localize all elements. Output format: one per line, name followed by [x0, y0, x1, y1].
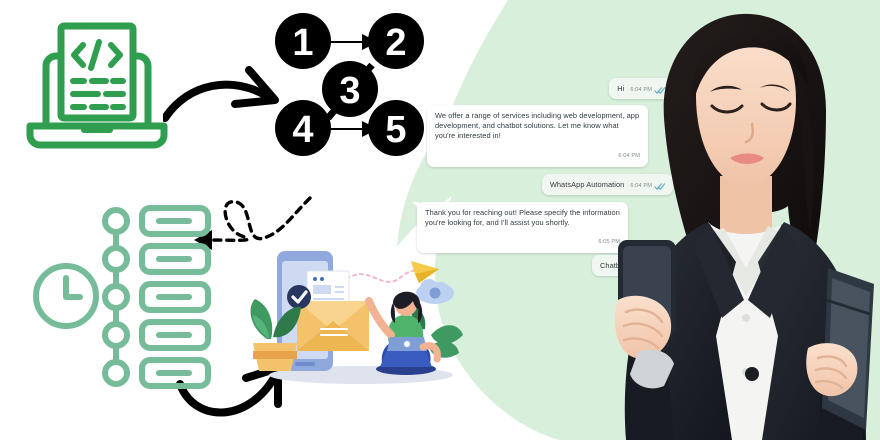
- businesswoman-photo: [612, 0, 880, 440]
- clock-timeline-icon: [22, 196, 222, 396]
- timeline-cards: [142, 208, 208, 386]
- bubble-tail: [422, 105, 429, 111]
- flow-node-3-label: 3: [339, 70, 360, 112]
- flow-node-5-label: 5: [385, 109, 406, 151]
- timeline-icon: [105, 210, 127, 384]
- poster-canvas: 1 2 3 4 5: [0, 0, 880, 440]
- bubble-tail: [412, 202, 419, 208]
- blazer-button: [745, 367, 759, 381]
- flow-node-2-label: 2: [385, 22, 406, 64]
- woman-with-laptop: [369, 292, 437, 375]
- flow-node-4-label: 4: [292, 109, 313, 151]
- chat-bubble-incoming[interactable]: Thank you for reaching out! Please speci…: [417, 202, 628, 253]
- flow-node-1-label: 1: [292, 22, 313, 64]
- chat-message-text: We offer a range of services including w…: [435, 111, 640, 142]
- chat-message-text: Thank you for reaching out! Please speci…: [425, 208, 620, 228]
- laptop-code-icon: [18, 14, 176, 154]
- numbered-flow-diagram: 1 2 3 4 5: [268, 8, 438, 168]
- clock-icon: [36, 266, 96, 326]
- curved-arrow-right-icon: [163, 52, 291, 138]
- check-badge-icon: [287, 285, 311, 309]
